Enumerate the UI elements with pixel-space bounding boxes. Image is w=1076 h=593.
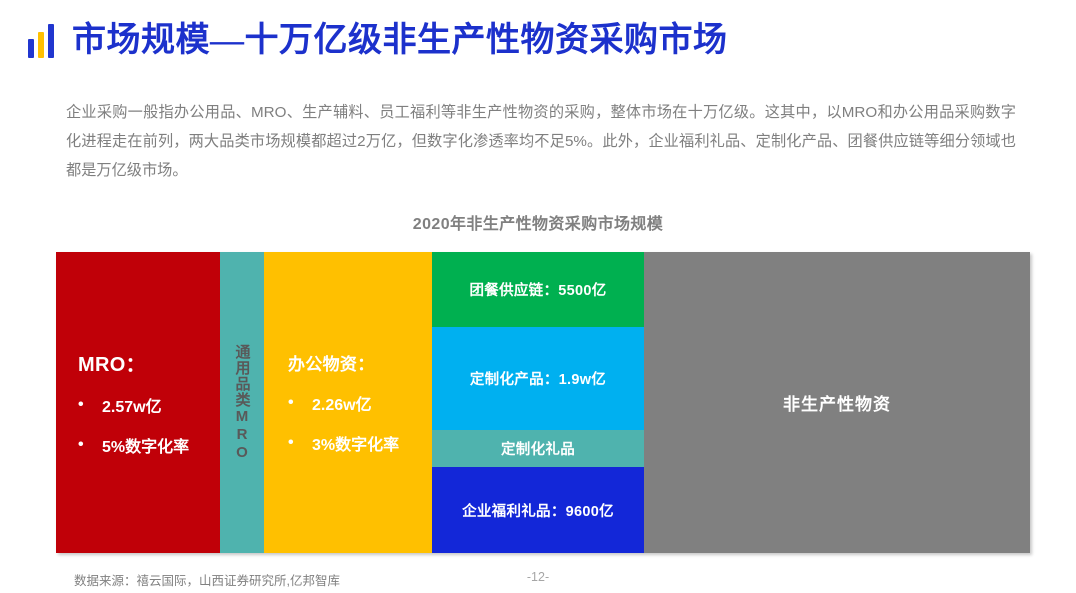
- chart-column-office-bullet-0: • 2.26w亿: [288, 391, 432, 415]
- chart-segment-corporate-welfare-gifts[interactable]: 企业福利礼品：9600亿: [432, 467, 644, 553]
- chart-column-generic-mro-label: 通用品类MRO: [232, 344, 253, 462]
- chart-column-mro-bullet-0-text: 2.57w亿: [92, 393, 162, 417]
- chart-column-office-bullet-1-text: 3%数字化率: [302, 431, 399, 455]
- market-size-chart: MRO： • 2.57w亿 • 5%数字化率 通用品类MRO 办公物资： • 2…: [56, 252, 1030, 553]
- chart-column-mro-bullet-1-text: 5%数字化率: [92, 433, 189, 457]
- bullet-dot-icon: •: [288, 435, 302, 451]
- chart-column-non-productive-materials[interactable]: 非生产性物资: [644, 252, 1030, 553]
- slide-root: 市场规模—十万亿级非生产性物资采购市场 企业采购一般指办公用品、MRO、生产辅料…: [0, 0, 1076, 593]
- chart-column-generic-mro[interactable]: 通用品类MRO: [220, 252, 264, 553]
- chart-column-non-productive-materials-label: 非生产性物资: [783, 390, 891, 415]
- chart-column-office-heading: 办公物资：: [288, 350, 432, 375]
- chart-column-office-bullet-1: • 3%数字化率: [288, 431, 432, 455]
- bullet-dot-icon: •: [288, 395, 302, 411]
- chart-column-mro-bullet-0: • 2.57w亿: [78, 393, 220, 417]
- bar-chart-icon-bar-1: [28, 39, 34, 58]
- footer-page-number: -12-: [0, 570, 1076, 584]
- chart-column-mro[interactable]: MRO： • 2.57w亿 • 5%数字化率: [56, 252, 220, 553]
- chart-column-mro-bullet-1: • 5%数字化率: [78, 433, 220, 457]
- chart-column-office-bullet-0-text: 2.26w亿: [302, 391, 372, 415]
- chart-title: 2020年非生产性物资采购市场规模: [0, 210, 1076, 234]
- body-paragraph: 企业采购一般指办公用品、MRO、生产辅料、员工福利等非生产性物资的采购，整体市场…: [66, 98, 1016, 185]
- chart-segment-canteen-supply-chain[interactable]: 团餐供应链：5500亿: [432, 252, 644, 327]
- chart-segment-customized-gifts[interactable]: 定制化礼品: [432, 430, 644, 467]
- title-row: 市场规模—十万亿级非生产性物资采购市场: [28, 22, 728, 60]
- page-title: 市场规模—十万亿级非生产性物资采购市场: [72, 22, 728, 60]
- chart-segment-customized-products[interactable]: 定制化产品：1.9w亿: [432, 327, 644, 430]
- bullet-dot-icon: •: [78, 397, 92, 413]
- bullet-dot-icon: •: [78, 437, 92, 453]
- chart-column-segments: 团餐供应链：5500亿 定制化产品：1.9w亿 定制化礼品 企业福利礼品：960…: [432, 252, 644, 553]
- bar-chart-icon: [28, 24, 58, 58]
- chart-column-mro-heading: MRO：: [78, 348, 220, 377]
- bar-chart-icon-bar-2: [38, 32, 44, 58]
- bar-chart-icon-bar-3: [48, 24, 54, 58]
- chart-column-office-supplies[interactable]: 办公物资： • 2.26w亿 • 3%数字化率: [264, 252, 432, 553]
